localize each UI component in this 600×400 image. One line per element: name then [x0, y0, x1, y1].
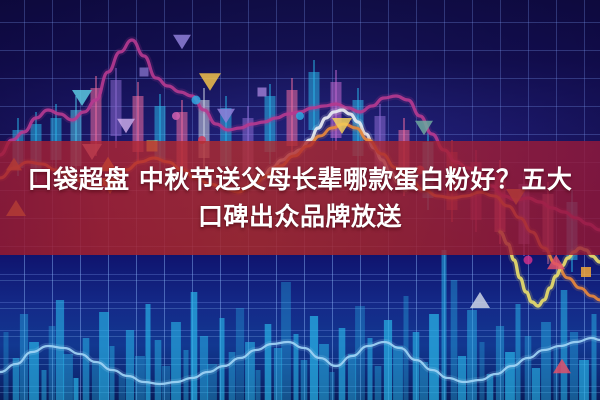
volume-bar	[155, 340, 162, 400]
volume-bar	[480, 342, 485, 400]
chart-marker-circle	[192, 96, 201, 105]
volume-bar	[516, 304, 521, 400]
volume-bar	[532, 368, 540, 400]
volume-bar	[429, 314, 439, 400]
volume-bar	[49, 326, 56, 400]
volume-bar	[348, 354, 356, 400]
volume-bar	[375, 366, 382, 400]
volume-bar	[330, 372, 335, 400]
volume-bar	[265, 324, 272, 400]
chart-marker-triangle-down	[217, 109, 235, 123]
volume-bar	[467, 310, 477, 400]
volume-bar	[171, 322, 181, 400]
volume-bar	[126, 330, 134, 400]
candlestick-body	[287, 90, 298, 146]
volume-bar	[579, 360, 589, 400]
volume-bar	[42, 370, 47, 400]
headline-band: 口袋超盘 中秋节送父母长辈哪款蛋白粉好？五大 口碑出众品牌放送	[0, 141, 600, 255]
chart-marker-triangle-down	[199, 73, 221, 91]
volume-bar	[301, 360, 308, 400]
volume-bar	[541, 322, 551, 400]
volume-bar	[496, 326, 504, 400]
candlestick-body	[111, 80, 122, 136]
volume-bar-group	[4, 250, 597, 400]
volume-bar	[592, 314, 597, 400]
volume-bar	[63, 354, 73, 400]
headline-line-2: 口碑出众品牌放送	[198, 199, 402, 235]
chart-marker-circle	[172, 112, 180, 120]
chart-marker-square	[258, 88, 267, 97]
volume-bar	[220, 318, 225, 400]
chart-marker-triangle-down	[173, 35, 191, 49]
volume-bar	[505, 352, 515, 400]
volume-bar	[274, 348, 282, 400]
volume-bar	[184, 350, 189, 400]
chart-marker-circle	[296, 112, 304, 120]
volume-bar	[256, 370, 261, 400]
volume-bar	[525, 336, 532, 400]
volume-bar	[83, 338, 90, 400]
stock-banner-image: 口袋超盘 中秋节送父母长辈哪款蛋白粉好？五大 口碑出众品牌放送	[0, 0, 600, 400]
volume-bar	[384, 320, 392, 400]
chart-marker-triangle-up	[470, 292, 490, 308]
volume-bar	[319, 344, 329, 400]
volume-bar	[554, 348, 559, 400]
candlestick-body	[309, 72, 320, 130]
volume-bar	[413, 332, 420, 400]
volume-bar	[74, 378, 79, 400]
chart-marker-circle	[524, 256, 533, 265]
headline-line-1: 口袋超盘 中秋节送父母长辈哪款蛋白粉好？五大	[28, 162, 573, 198]
chart-marker-square	[581, 267, 591, 277]
volume-bar	[236, 308, 244, 400]
chart-marker-square	[140, 68, 149, 77]
volume-bar	[92, 362, 100, 400]
volume-bar	[200, 336, 208, 400]
volume-bar	[191, 292, 198, 400]
volume-bar	[99, 312, 109, 400]
volume-bar	[393, 346, 403, 400]
